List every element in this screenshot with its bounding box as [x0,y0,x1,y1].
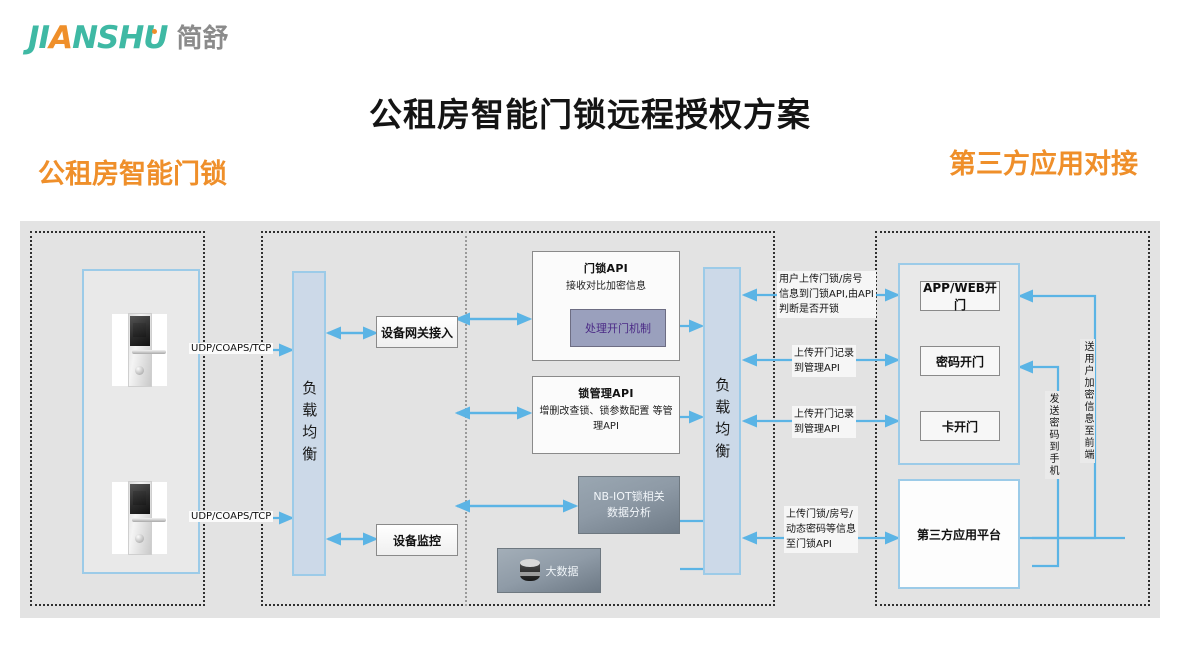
smart-lock-image-top [112,314,167,386]
load-balancer-1-label: 负载均衡 [301,380,318,468]
lock-manage-api-box: 锁管理API 增删改查锁、锁参数配置 等管理API [532,376,680,454]
lock-body [128,313,152,387]
card-open-label: 卡开门 [942,418,978,435]
card-open-box: 卡开门 [920,411,1000,441]
third-party-platform-label: 第三方应用平台 [917,526,1001,543]
note-user-upload: 用户上传门锁/房号 信息到门锁API,由API 判断是否开锁 [777,271,876,318]
third-party-platform-box: 第三方应用平台 [898,479,1020,589]
lock-knob [135,366,144,375]
password-open-label: 密码开门 [936,353,984,370]
logo-text-part2: NSHU [72,20,167,56]
lock-handle [132,350,166,354]
architecture-diagram: UDP/COAPS/TCP UDP/COAPS/TCP 负载均衡 设备网关接入 … [20,221,1160,618]
page-title: 公租房智能门锁远程授权方案 [0,88,1180,136]
load-balancer-2-label: 负载均衡 [714,377,731,465]
bigdata-box: 大数据 [497,548,601,593]
note-upload-record-1: 上传开门记录 到管理API [792,345,856,377]
logo-wordmark: JIANSHU [28,23,172,54]
gateway-access-box: 设备网关接入 [376,316,458,348]
protocol-label-bottom: UDP/COAPS/TCP [189,511,273,522]
lock-keypad [133,491,146,505]
brand-logo: JIANSHU 简舒 [28,20,228,56]
open-door-mechanism-box: 处理开门机制 [570,309,666,347]
lock-manage-api-title: 锁管理API [578,385,633,401]
note-send-encrypted: 送用户加密信息至前端 [1080,339,1095,463]
smart-lock-image-bottom [112,482,167,554]
password-open-box: 密码开门 [920,346,1000,376]
logo-chinese-name: 简舒 [176,26,228,52]
lock-knob [135,534,144,543]
lock-handle [132,518,166,522]
database-icon [520,559,540,583]
gateway-access-label: 设备网关接入 [381,324,453,341]
lock-body [128,481,152,555]
nbiot-analysis-box: NB-IOT锁相关 数据分析 [578,476,680,534]
open-door-mechanism-label: 处理开门机制 [585,320,651,336]
section-title-left: 公租房智能门锁 [38,152,227,191]
note-upload-record-2: 上传开门记录 到管理API [792,406,856,438]
lock-keypad [133,323,146,337]
nbiot-analysis-label: NB-IOT锁相关 数据分析 [593,489,664,522]
load-balancer-1: 负载均衡 [292,271,326,576]
note-upload-lock-info: 上传门锁/房号/ 动态密码等信息 至门锁API [784,506,858,553]
note-send-password: 发送密码到手机 [1045,391,1060,479]
load-balancer-2: 负载均衡 [703,267,741,575]
app-web-open-box: APP/WEB开门 [920,281,1000,311]
bigdata-label: 大数据 [546,563,579,579]
lock-manage-api-subtitle: 增删改查锁、锁参数配置 等管理API [533,405,679,434]
app-web-open-label: APP/WEB开门 [921,279,999,313]
device-monitor-label: 设备监控 [393,532,441,549]
logo-text-part1: JI [28,20,49,56]
section-title-right: 第三方应用对接 [949,142,1138,181]
device-monitor-box: 设备监控 [376,524,458,556]
logo-text-a: A [49,20,72,56]
lock-api-title: 门锁API [584,260,628,276]
protocol-label-top: UDP/COAPS/TCP [189,343,273,354]
lock-api-subtitle: 接收对比加密信息 [560,280,652,295]
